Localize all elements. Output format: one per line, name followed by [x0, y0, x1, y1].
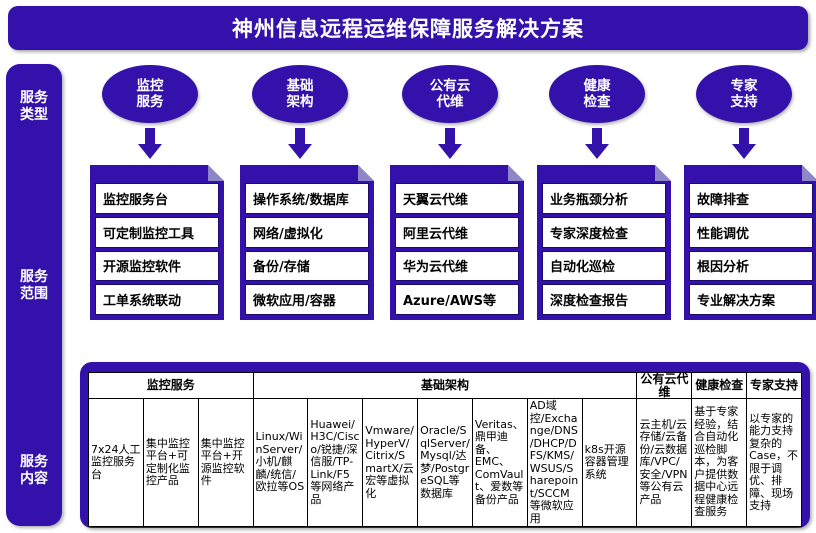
down-arrow-icon [437, 128, 463, 160]
page-title: 神州信息远程运维保障服务解决方案 [8, 6, 808, 50]
scope-item[interactable]: 根因分析 [689, 251, 813, 282]
table-cell: 以专家的能力支持复杂的Case，不限于调优、排障、现场支持 [747, 399, 802, 527]
scope-card-expert-support: 故障排查性能调优根因分析专业解决方案 [684, 165, 816, 320]
table-group-header: 基础架构 [253, 373, 637, 399]
category-label: 基础 [287, 78, 314, 94]
table-group-header: 健康检查 [692, 373, 747, 399]
table-cell: 基于专家经验，结合自动化巡检脚本，为客户提供数据中心远程健康检查服务 [692, 399, 747, 527]
category-label: 代维 [437, 94, 464, 110]
category-label: 公有云 [430, 78, 471, 94]
scope-item[interactable]: 业务瓶颈分析 [542, 183, 666, 214]
sidebar-item-label: 内容 [6, 471, 62, 488]
sidebar: 服务 类型 服务 范围 服务 内容 [6, 64, 62, 526]
folded-corner-icon [802, 165, 816, 181]
table-cell: 集中监控平台+开源监控软件 [198, 399, 253, 527]
category-label: 服务 [137, 94, 164, 110]
scope-item[interactable]: 华为云代维 [395, 251, 519, 282]
table-header-row: 监控服务基础架构公有云代维健康检查专家支持 [89, 373, 802, 399]
down-arrow-icon [287, 128, 313, 160]
table-group-header: 监控服务 [89, 373, 254, 399]
scope-item[interactable]: 自动化巡检 [542, 251, 666, 282]
table-cell: 集中监控平台+可定制化监控产品 [143, 399, 198, 527]
scope-card-monitoring-service: 监控服务台可定制监控工具开源监控软件工单系统联动 [90, 165, 224, 320]
scope-item[interactable]: Azure/AWS等 [395, 284, 519, 315]
scope-card-public-cloud-ops: 天翼云代维阿里云代维华为云代维Azure/AWS等 [390, 165, 524, 320]
scope-item[interactable]: 性能调优 [689, 217, 813, 248]
category-ellipse-public-cloud-ops[interactable]: 公有云代维 [402, 65, 498, 123]
scope-item[interactable]: 阿里云代维 [395, 217, 519, 248]
down-arrow-icon [584, 128, 610, 160]
category-label: 专家 [731, 78, 758, 94]
scope-item[interactable]: 监控服务台 [95, 183, 219, 214]
table-cell: Huawei/H3C/Cisco/锐捷/深信服/TP-Link/F5等网络产品 [308, 399, 363, 527]
scope-item[interactable]: 微软应用/容器 [245, 284, 369, 315]
sidebar-item-service-content: 服务 内容 [6, 454, 62, 488]
table-group-header: 公有云代维 [637, 373, 692, 399]
scope-item[interactable]: 故障排查 [689, 183, 813, 214]
service-content-table: 监控服务基础架构公有云代维健康检查专家支持 7x24人工监控服务台集中监控平台+… [88, 372, 802, 527]
scope-item[interactable]: 开源监控软件 [95, 251, 219, 282]
category-label: 架构 [287, 94, 314, 110]
folded-corner-icon [508, 165, 524, 181]
scope-item[interactable]: 备份/存储 [245, 251, 369, 282]
table-cell: k8s开源容器管理系统 [582, 399, 637, 527]
table-cell: Linux/WinServer/小机/麒麟/统信/欧拉等OS [253, 399, 308, 527]
category-ellipse-infrastructure[interactable]: 基础架构 [252, 65, 348, 123]
sidebar-item-service-scope: 服务 范围 [6, 269, 62, 303]
scope-item[interactable]: 专家深度检查 [542, 217, 666, 248]
scope-item[interactable]: 专业解决方案 [689, 284, 813, 315]
category-label: 检查 [584, 94, 611, 110]
scope-item[interactable]: 网络/虚拟化 [245, 217, 369, 248]
category-ellipse-expert-support[interactable]: 专家支持 [696, 65, 792, 123]
folded-corner-icon [655, 165, 671, 181]
service-content-panel: 监控服务基础架构公有云代维健康检查专家支持 7x24人工监控服务台集中监控平台+… [80, 362, 810, 528]
down-arrow-icon [731, 128, 757, 160]
table-cell: Vmware/HyperV/Citrix/SmartX/云宏等虚拟化 [363, 399, 418, 527]
scope-item[interactable]: 工单系统联动 [95, 284, 219, 315]
scope-item[interactable]: 深度检查报告 [542, 284, 666, 315]
table-cell: AD域控/Exchange/DNS/DHCP/DFS/KMS/WSUS/Shar… [527, 399, 582, 527]
scope-card-health-check: 业务瓶颈分析专家深度检查自动化巡检深度检查报告 [537, 165, 671, 320]
scope-item[interactable]: 可定制监控工具 [95, 217, 219, 248]
table-cell: 7x24人工监控服务台 [89, 399, 144, 527]
category-label: 支持 [731, 94, 758, 110]
table-cell: Oracle/SqlServer/Mysql/达梦/PostgreSQL等数据库 [418, 399, 473, 527]
table-cell: Veritas、鼎甲迪备、EMC、ComVault、爱数等备份产品 [472, 399, 527, 527]
scope-item[interactable]: 天翼云代维 [395, 183, 519, 214]
down-arrow-icon [137, 128, 163, 160]
sidebar-item-service-type: 服务 类型 [6, 90, 62, 124]
table-cell: 云主机/云存储/云备份/云数据库/VPC/安全/VPN等公有云产品 [637, 399, 692, 527]
category-ellipse-monitoring-service[interactable]: 监控服务 [102, 65, 198, 123]
category-label: 健康 [584, 78, 611, 94]
scope-item[interactable]: 操作系统/数据库 [245, 183, 369, 214]
sidebar-item-label: 服务 [6, 269, 62, 286]
sidebar-item-label: 服务 [6, 90, 62, 107]
scope-card-infrastructure: 操作系统/数据库网络/虚拟化备份/存储微软应用/容器 [240, 165, 374, 320]
sidebar-item-label: 类型 [6, 107, 62, 124]
sidebar-item-label: 范围 [6, 286, 62, 303]
category-label: 监控 [137, 78, 164, 94]
table-row: 7x24人工监控服务台集中监控平台+可定制化监控产品集中监控平台+开源监控软件L… [89, 399, 802, 527]
folded-corner-icon [208, 165, 224, 181]
table-group-header: 专家支持 [747, 373, 802, 399]
folded-corner-icon [358, 165, 374, 181]
sidebar-item-label: 服务 [6, 454, 62, 471]
category-ellipse-health-check[interactable]: 健康检查 [549, 65, 645, 123]
slide-root: 神州信息远程运维保障服务解决方案 服务 类型 服务 范围 服务 内容 监控服务监… [0, 0, 816, 533]
